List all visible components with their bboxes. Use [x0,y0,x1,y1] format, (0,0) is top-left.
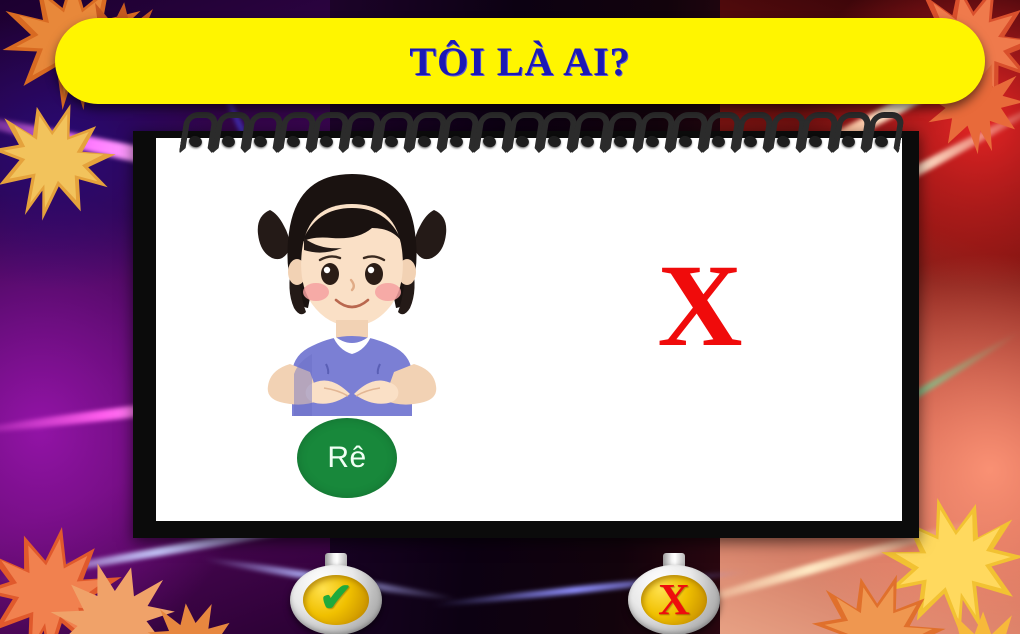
cross-icon: X [658,578,690,622]
spiral-ring-icon [768,112,794,154]
spiral-ring-icon [637,112,663,154]
button-core: X [641,575,707,625]
spiral-ring-icon [441,112,467,154]
title-banner: TÔI LÀ AI? [55,18,985,104]
spiral-ring-icon [278,112,304,154]
spiral-ring-icon [833,112,859,154]
spiral-ring-icon [539,112,565,154]
button-core: ✔ [303,575,369,625]
page-title: TÔI LÀ AI? [409,38,630,85]
spiral-ring-icon [409,112,435,154]
spiral-ring-icon [213,112,239,154]
answer-letter: X [640,236,760,376]
syllable-badge-label: Rê [327,441,366,475]
spiral-ring-icon [866,112,892,154]
notebook-spiral-binding [180,112,892,154]
spiral-ring-icon [572,112,598,154]
spiral-ring-icon [670,112,696,154]
spiral-ring-icon [605,112,631,154]
spiral-ring-icon [800,112,826,154]
spiral-ring-icon [474,112,500,154]
spiral-ring-icon [245,112,271,154]
wrong-answer-button[interactable]: X [628,557,720,634]
spiral-ring-icon [311,112,337,154]
spiral-ring-icon [703,112,729,154]
syllable-badge[interactable]: Rê [297,418,397,498]
spiral-ring-icon [735,112,761,154]
button-ring: X [628,565,720,634]
check-icon: ✔ [319,578,353,618]
girl-illustration [246,168,458,416]
spiral-ring-icon [507,112,533,154]
correct-answer-button[interactable]: ✔ [290,557,382,634]
spiral-ring-icon [343,112,369,154]
button-ring: ✔ [290,565,382,634]
spiral-ring-icon [180,112,206,154]
slide-stage: TÔI LÀ AI? [0,0,1020,634]
spiral-ring-icon [376,112,402,154]
